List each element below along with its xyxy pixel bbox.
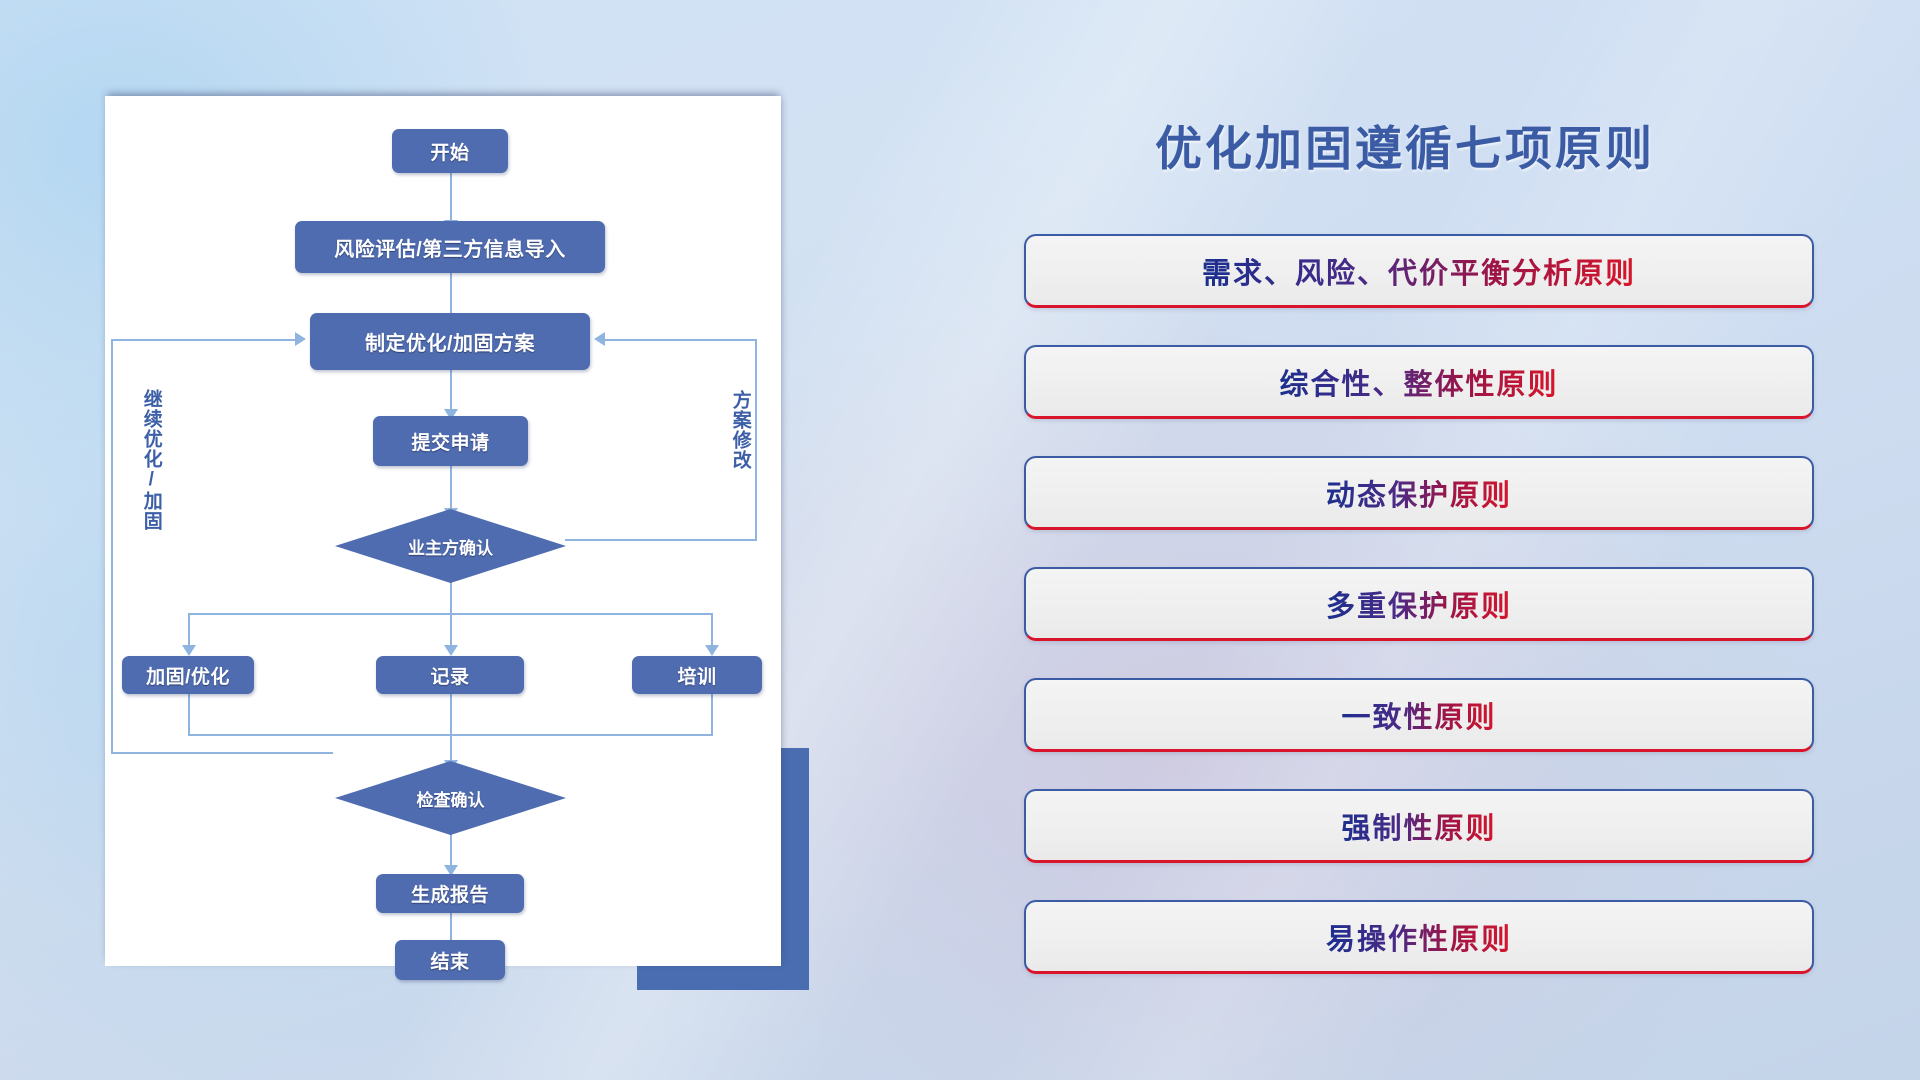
connector-record-down: [450, 694, 452, 766]
flow-node-reinforce[interactable]: 加固/优化: [122, 656, 254, 694]
connector-right-loop-bottom: [565, 539, 757, 541]
principles-list: 需求、风险、代价平衡分析原则 综合性、整体性原则 动态保护原则 多重保护原则 一…: [1024, 234, 1814, 974]
connector-merge-bar: [188, 734, 713, 736]
slide-canvas: 开始 风险评估/第三方信息导入 制定优化/加固方案 提交申请 业主方确认 加固/…: [0, 0, 1920, 1080]
flow-node-reinforce-label: 加固/优化: [146, 662, 230, 689]
principle-item-1-label: 需求、风险、代价平衡分析原则: [1202, 250, 1636, 292]
flow-node-owner-confirm[interactable]: 业主方确认: [335, 509, 566, 583]
principle-item-2-label: 综合性、整体性原则: [1279, 361, 1558, 403]
principle-item-2[interactable]: 综合性、整体性原则: [1024, 345, 1814, 419]
principle-item-5[interactable]: 一致性原则: [1024, 678, 1814, 752]
principles-title: 优化加固遵循七项原则: [1155, 110, 1655, 179]
flow-node-check-confirm-label: 检查确认: [417, 786, 485, 811]
flowchart-card: 开始 风险评估/第三方信息导入 制定优化/加固方案 提交申请 业主方确认 加固/…: [105, 96, 781, 966]
flow-node-end[interactable]: 结束: [395, 940, 505, 980]
principle-item-7[interactable]: 易操作性原则: [1024, 900, 1814, 974]
connector-left-loop-top: [111, 339, 299, 341]
arrow-right-loop-into-plan: [594, 332, 605, 346]
flow-node-record-label: 记录: [430, 662, 469, 689]
flowchart: 开始 风险评估/第三方信息导入 制定优化/加固方案 提交申请 业主方确认 加固/…: [105, 96, 781, 966]
flow-node-submit[interactable]: 提交申请: [373, 416, 528, 466]
principle-item-4[interactable]: 多重保护原则: [1024, 567, 1814, 641]
flow-node-plan[interactable]: 制定优化/加固方案: [310, 313, 590, 370]
principle-item-3-label: 动态保护原则: [1326, 472, 1512, 514]
principle-item-5-label: 一致性原则: [1341, 694, 1496, 736]
flow-node-plan-label: 制定优化/加固方案: [365, 327, 535, 356]
connector-right-loop-vert: [755, 339, 757, 541]
arrow-to-reinforce: [182, 645, 196, 656]
flow-node-training[interactable]: 培训: [632, 656, 762, 694]
arrow-left-loop-into-plan: [295, 332, 306, 346]
flow-node-owner-confirm-label: 业主方确认: [408, 534, 493, 559]
flow-node-start[interactable]: 开始: [392, 129, 508, 173]
connector-left-loop-bottom: [111, 752, 333, 754]
connector-left-loop-vert: [111, 339, 113, 754]
principle-item-1[interactable]: 需求、风险、代价平衡分析原则: [1024, 234, 1814, 308]
principle-item-6-label: 强制性原则: [1341, 805, 1496, 847]
arrow-to-record: [444, 645, 458, 656]
connector-training-down: [711, 694, 713, 735]
connector-submit-owner: [450, 466, 452, 514]
flow-node-submit-label: 提交申请: [411, 428, 489, 455]
flow-node-report-label: 生成报告: [411, 880, 489, 907]
flow-node-risk-assessment[interactable]: 风险评估/第三方信息导入: [295, 221, 605, 273]
edge-label-left-loop: 继续优化/加固: [141, 389, 161, 531]
connector-start-risk: [450, 173, 452, 226]
edge-label-right-loop: 方案修改: [730, 390, 750, 470]
connector-right-loop-top: [605, 339, 757, 341]
connector-reinforce-down: [188, 694, 190, 735]
flow-node-end-label: 结束: [430, 947, 469, 974]
principle-item-3[interactable]: 动态保护原则: [1024, 456, 1814, 530]
flow-node-check-confirm[interactable]: 检查确认: [335, 761, 566, 835]
flow-node-record[interactable]: 记录: [376, 656, 524, 694]
flow-node-start-label: 开始: [430, 138, 469, 165]
flow-node-training-label: 培训: [677, 662, 716, 689]
principle-item-4-label: 多重保护原则: [1326, 583, 1512, 625]
flow-node-risk-assessment-label: 风险评估/第三方信息导入: [334, 233, 566, 262]
flow-node-report[interactable]: 生成报告: [376, 874, 524, 913]
principle-item-7-label: 易操作性原则: [1326, 916, 1512, 958]
principle-item-6[interactable]: 强制性原则: [1024, 789, 1814, 863]
arrow-to-training: [705, 645, 719, 656]
